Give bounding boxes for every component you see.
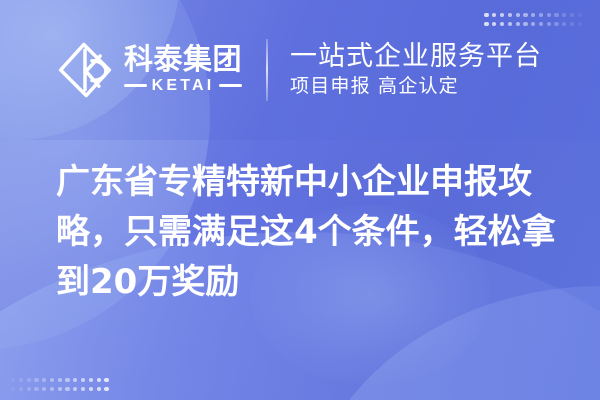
brand-name-en: KETAI [152, 77, 215, 95]
dot-icon [65, 378, 69, 382]
brand-name-en-row: KETAI [124, 77, 242, 95]
dot-icon [42, 378, 46, 382]
ketai-diamond-kd-logo-icon [56, 41, 114, 99]
dot-row [11, 387, 109, 391]
dot-icon [11, 387, 15, 391]
dot-row [11, 378, 109, 382]
tagline-block: 一站式企业服务平台 项目申报 高企认定 [290, 42, 542, 99]
dot-icon [81, 378, 85, 382]
promo-banner: 科泰集团 KETAI 一站式企业服务平台 项目申报 高企认定 广东省专精特新中小… [0, 0, 600, 400]
dot-icon [50, 378, 54, 382]
dash-right-icon [219, 84, 242, 87]
dot-icon [89, 387, 93, 391]
dot-icon [34, 387, 38, 391]
dot-icon [97, 387, 101, 391]
dot-icon [73, 387, 77, 391]
dot-icon [73, 378, 77, 382]
tagline-sub: 项目申报 高企认定 [290, 75, 459, 99]
banner-header: 科泰集团 KETAI 一站式企业服务平台 项目申报 高企认定 [0, 0, 600, 140]
dot-icon [34, 378, 38, 382]
brand-logo-wordmark: 科泰集团 KETAI [124, 45, 242, 95]
dot-icon [89, 378, 93, 382]
dot-icon [19, 387, 23, 391]
dot-icon [27, 387, 31, 391]
dot-icon [104, 387, 108, 391]
dot-icon [50, 387, 54, 391]
dash-left-icon [124, 84, 147, 87]
dot-icon [58, 387, 62, 391]
tagline-main: 一站式企业服务平台 [290, 42, 542, 72]
dot-icon [42, 387, 46, 391]
dot-icon [65, 387, 69, 391]
page-title: 广东省专精特新中小企业申报攻略，只需满足这4个条件，轻松拿到20万奖励 [56, 158, 556, 308]
brand-logo[interactable]: 科泰集团 KETAI [56, 41, 242, 99]
dot-icon [104, 378, 108, 382]
vertical-divider-icon [266, 39, 268, 101]
dot-icon [58, 378, 62, 382]
dot-icon [19, 378, 23, 382]
dot-icon [11, 378, 15, 382]
dot-icon [27, 378, 31, 382]
dot-grid-bottom-left-icon [11, 378, 109, 391]
dot-icon [81, 387, 85, 391]
dot-icon [97, 378, 101, 382]
brand-name-cn: 科泰集团 [124, 45, 242, 75]
